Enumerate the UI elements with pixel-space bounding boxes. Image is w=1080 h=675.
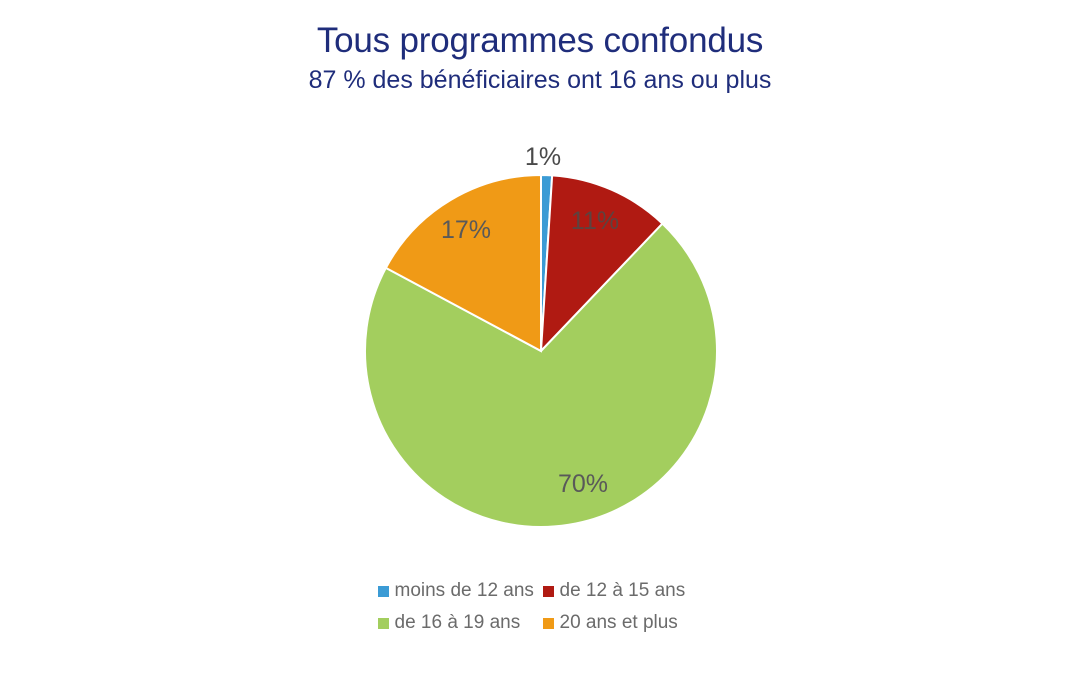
- legend-row: moins de 12 ans de 12 à 15 ans: [0, 575, 1080, 607]
- legend-swatch-icon: [543, 618, 554, 629]
- data-label-de-12-a-15-ans: 11%: [571, 207, 619, 235]
- legend-row: de 16 à 19 ans 20 ans et plus: [0, 607, 1080, 639]
- page-subtitle: 87 % des bénéficiaires ont 16 ans ou plu…: [0, 64, 1080, 96]
- data-label-20-ans-et-plus: 17%: [441, 216, 491, 244]
- title-block: Tous programmes confondus 87 % des bénéf…: [0, 20, 1080, 96]
- pie-data-labels: 1% 11% 70% 17%: [441, 143, 619, 498]
- legend-item-moins-de-12-ans[interactable]: moins de 12 ans: [378, 575, 543, 607]
- legend-item-label: de 16 à 19 ans: [395, 612, 521, 634]
- legend-item-de-16-a-19-ans[interactable]: de 16 à 19 ans: [378, 607, 543, 639]
- page-title: Tous programmes confondus: [0, 20, 1080, 62]
- pie-slice-20-ans-et-plus[interactable]: [386, 175, 541, 351]
- data-label-moins-de-12-ans: 1%: [525, 143, 561, 171]
- data-label-de-16-a-19-ans: 70%: [558, 470, 608, 498]
- legend-item-label: moins de 12 ans: [395, 580, 534, 602]
- pie-slice-de-16-a-19-ans[interactable]: [365, 224, 717, 527]
- legend-swatch-icon: [378, 618, 389, 629]
- pie-slice-moins-de-12-ans[interactable]: [541, 175, 552, 351]
- legend-item-label: 20 ans et plus: [560, 612, 678, 634]
- chart-legend: moins de 12 ans de 12 à 15 ans de 16 à 1…: [0, 575, 1080, 639]
- legend-item-label: de 12 à 15 ans: [560, 580, 686, 602]
- legend-item-20-ans-et-plus[interactable]: 20 ans et plus: [543, 607, 703, 639]
- legend-swatch-icon: [543, 586, 554, 597]
- pie-chart-slide: Tous programmes confondus 87 % des bénéf…: [0, 0, 1080, 675]
- pie-slices: [365, 175, 717, 527]
- legend-item-de-12-a-15-ans[interactable]: de 12 à 15 ans: [543, 575, 703, 607]
- pie-slice-de-12-a-15-ans[interactable]: [541, 175, 662, 351]
- legend-swatch-icon: [378, 586, 389, 597]
